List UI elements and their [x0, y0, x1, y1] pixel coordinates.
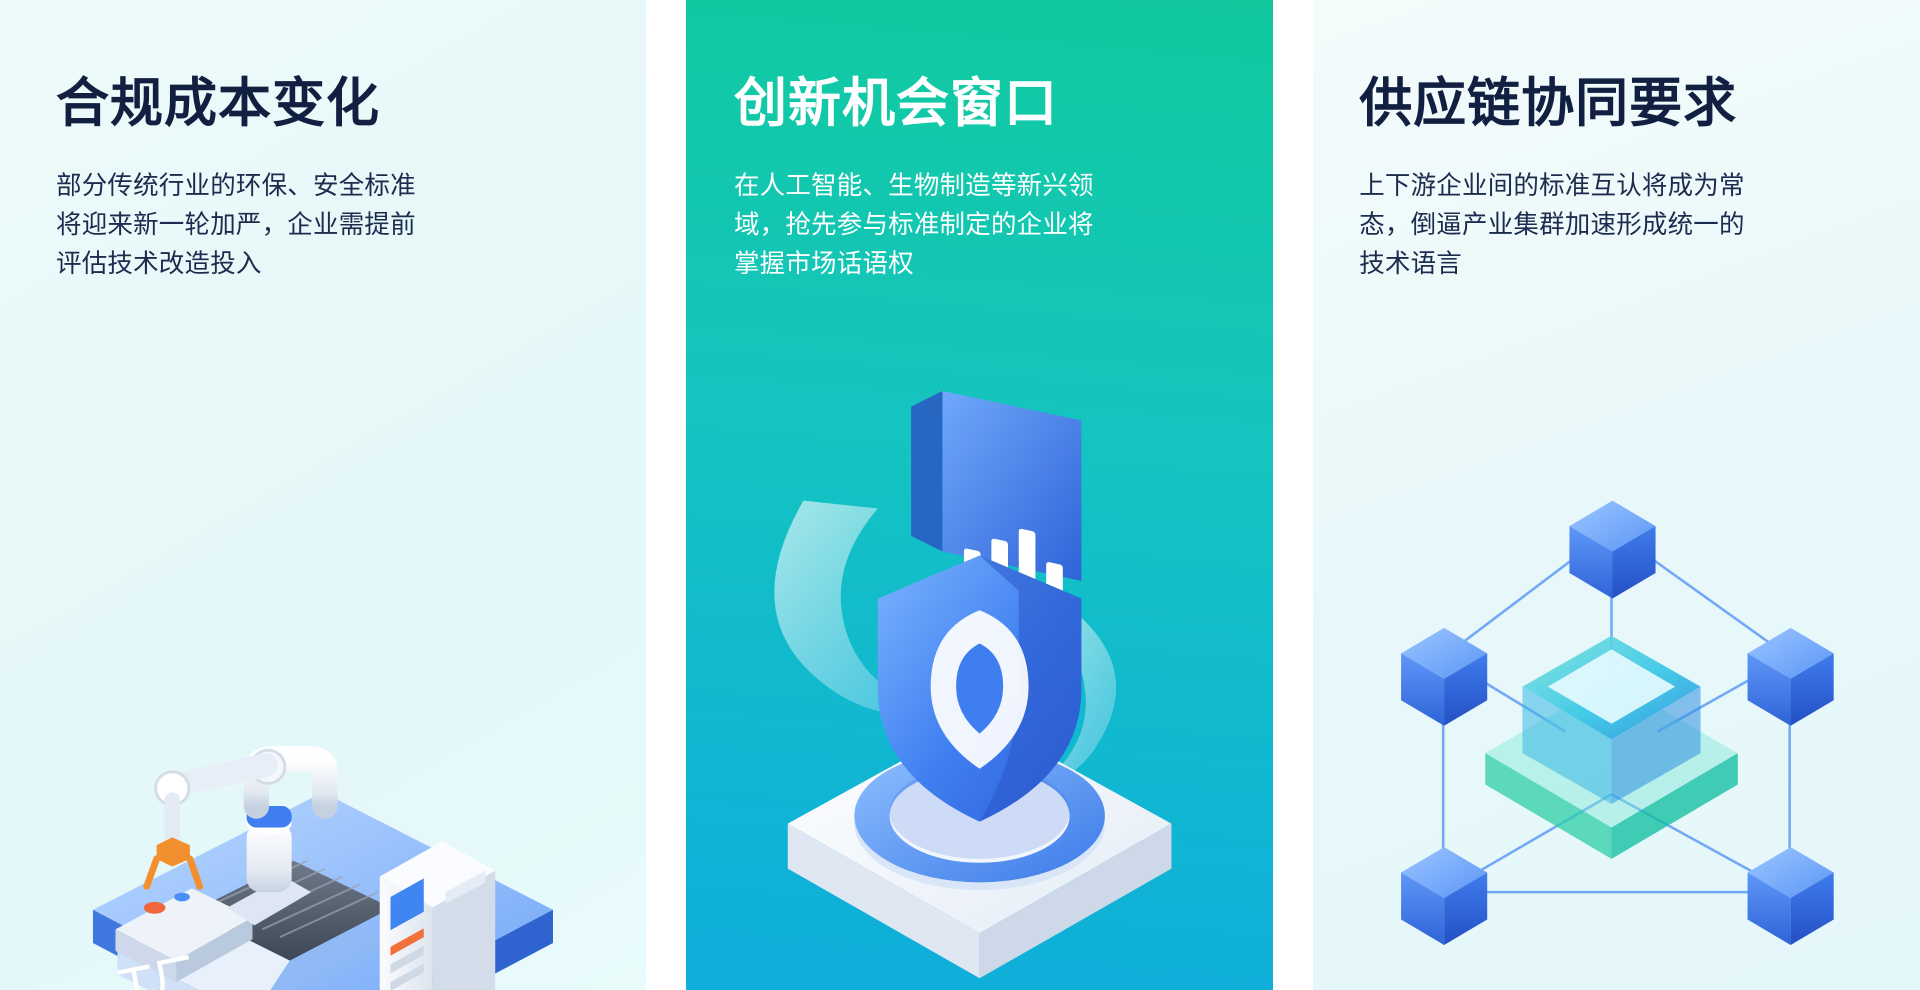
panel-1-body-line-2: 将迎来新一轮加严，企业需提前	[56, 206, 590, 245]
three-panel-infographic: 合规成本变化 部分传统行业的环保、安全标准 将迎来新一轮加严，企业需提前 评估技…	[0, 0, 1920, 990]
panel-compliance-cost: 合规成本变化 部分传统行业的环保、安全标准 将迎来新一轮加严，企业需提前 评估技…	[0, 0, 646, 990]
node-cube-top	[1570, 501, 1656, 599]
network-nodes-cubes-illustration	[1313, 350, 1920, 990]
panel-innovation-window: 创新机会窗口 在人工智能、生物制造等新兴领 域，抢先参与标准制定的企业将 掌握市…	[686, 0, 1273, 990]
panel-2-body-line-3: 掌握市场话语权	[734, 245, 1225, 284]
shield-chart-innovation-illustration	[686, 350, 1273, 990]
panel-1-body-line-1: 部分传统行业的环保、安全标准	[56, 167, 590, 206]
panel-1-title: 合规成本变化	[56, 74, 590, 133]
panel-3-body-line-2: 态，倒逼产业集群加速形成统一的	[1359, 206, 1874, 245]
node-cube-right-lower	[1748, 847, 1834, 945]
panel-3-title: 供应链协同要求	[1359, 74, 1874, 133]
panel-1-text-block: 合规成本变化 部分传统行业的环保、安全标准 将迎来新一轮加严，企业需提前 评估技…	[0, 74, 646, 284]
panel-3-text-block: 供应链协同要求 上下游企业间的标准互认将成为常 态，倒逼产业集群加速形成统一的 …	[1313, 74, 1920, 284]
panel-2-body-line-1: 在人工智能、生物制造等新兴领	[734, 167, 1225, 206]
panel-1-body-line-3: 评估技术改造投入	[56, 245, 590, 284]
panel-3-body-line-1: 上下游企业间的标准互认将成为常	[1359, 167, 1874, 206]
node-cube-left-upper	[1401, 628, 1487, 726]
panel-supply-chain-coordination: 供应链协同要求 上下游企业间的标准互认将成为常 态，倒逼产业集群加速形成统一的 …	[1313, 0, 1920, 990]
panel-gap-1	[646, 0, 686, 990]
panel-gap-2	[1273, 0, 1313, 990]
factory-robot-arm-illustration: 工厂 升级	[0, 350, 646, 990]
node-cube-right-upper	[1748, 628, 1834, 726]
panel-2-body-line-2: 域，抢先参与标准制定的企业将	[734, 206, 1225, 245]
panel-3-body-line-3: 技术语言	[1359, 245, 1874, 284]
core-cube-shape	[1485, 636, 1738, 859]
panel-2-title: 创新机会窗口	[734, 74, 1225, 133]
node-cube-left-lower	[1401, 847, 1487, 945]
panel-2-text-block: 创新机会窗口 在人工智能、生物制造等新兴领 域，抢先参与标准制定的企业将 掌握市…	[686, 74, 1273, 284]
